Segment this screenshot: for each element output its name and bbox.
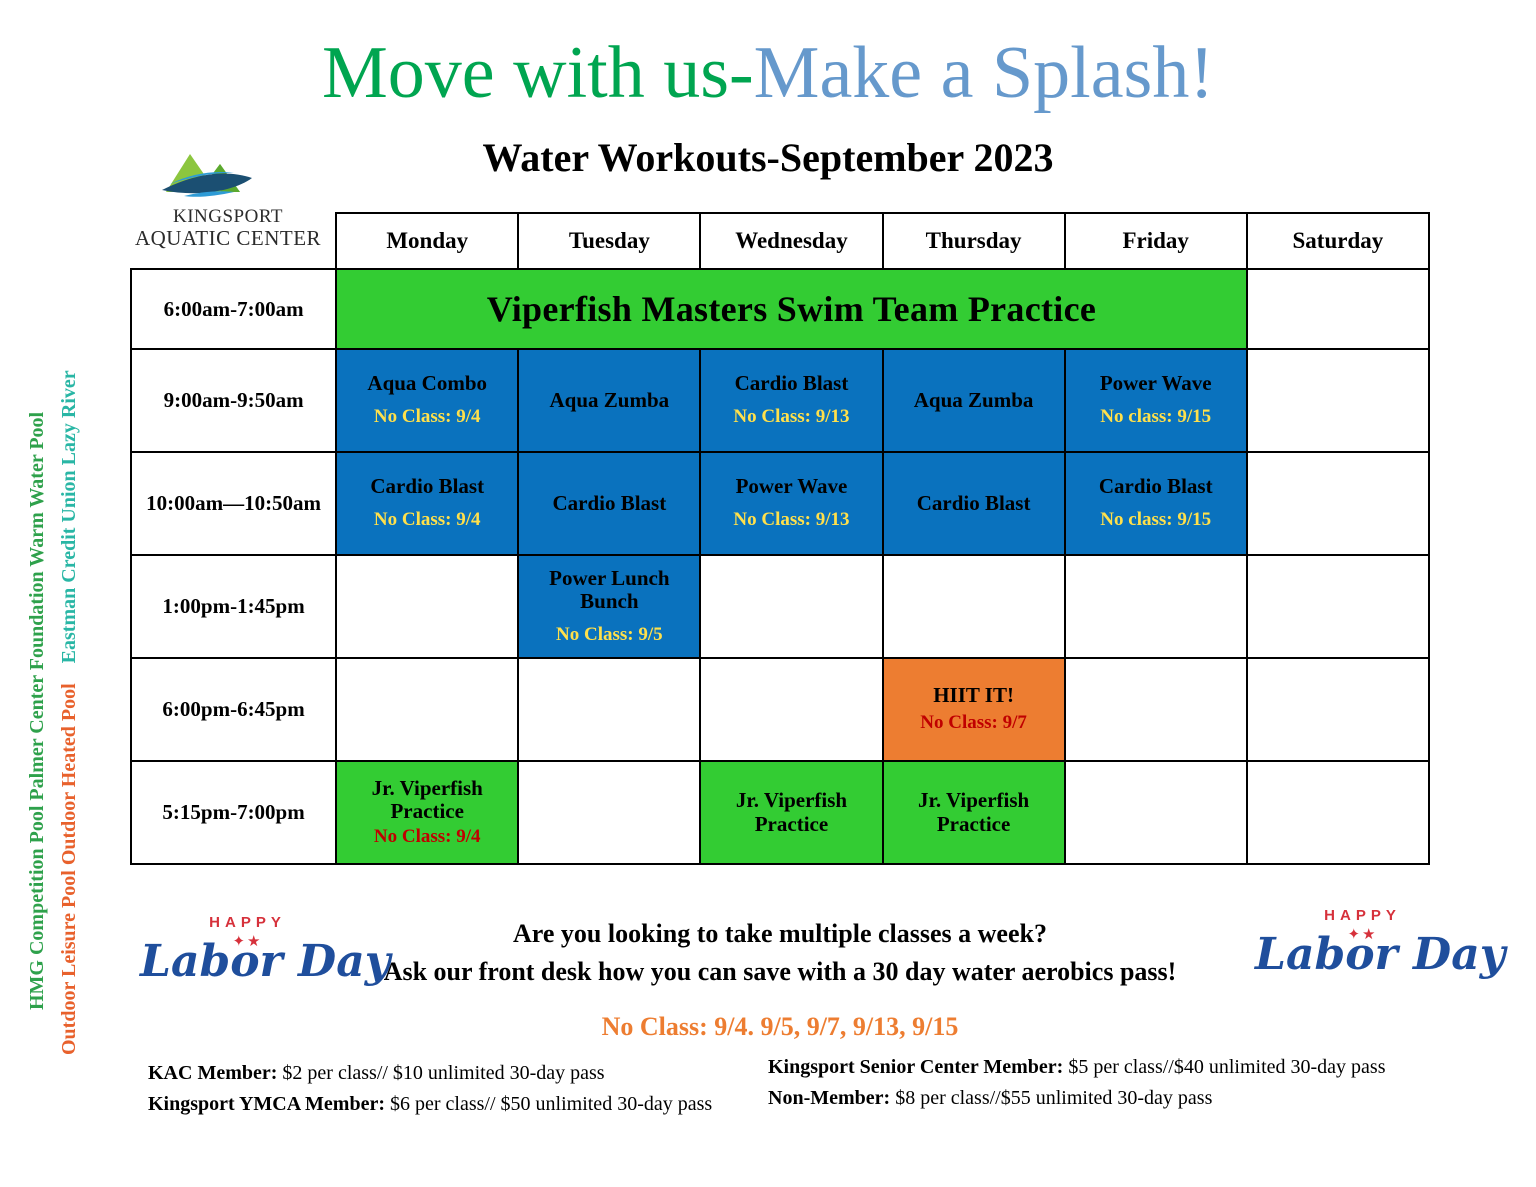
- page-title: Move with us-Make a Splash!: [0, 36, 1536, 110]
- schedule-cell-thursday[interactable]: HIIT IT! No Class: 9/7: [883, 658, 1065, 761]
- column-header-saturday: Saturday: [1247, 213, 1429, 269]
- schedule-cell-monday[interactable]: Cardio Blast No Class: 9/4: [336, 452, 518, 555]
- price-row: Kingsport YMCA Member: $6 per class// $5…: [148, 1089, 712, 1120]
- promo-no-class-summary: No Class: 9/4. 9/5, 9/7, 9/13, 9/15: [330, 1012, 1230, 1042]
- table-row: 1:00pm-1:45pm Power Lunch Bunch No Class…: [131, 555, 1429, 658]
- pricing-left-column: KAC Member: $2 per class// $10 unlimited…: [148, 1058, 712, 1120]
- schedule-cell-wednesday[interactable]: Jr. Viperfish Practice: [700, 761, 882, 864]
- class-name: Aqua Combo: [340, 372, 514, 396]
- class-name: Jr. Viperfish Practice: [704, 789, 878, 836]
- class-name: Aqua Zumba: [887, 389, 1061, 413]
- schedule-cell-masters-banner[interactable]: Viperfish Masters Swim Team Practice: [336, 269, 1247, 349]
- column-header-wednesday: Wednesday: [700, 213, 882, 269]
- schedule-cell-tuesday[interactable]: [518, 761, 700, 864]
- schedule-cell-monday[interactable]: [336, 658, 518, 761]
- schedule-cell-thursday[interactable]: Cardio Blast: [883, 452, 1065, 555]
- time-label: 9:00am-9:50am: [131, 349, 336, 452]
- schedule-cell-saturday[interactable]: [1247, 761, 1429, 864]
- labor-day-script-text: Labor Day: [1255, 929, 1470, 980]
- promo-line-1: Are you looking to take multiple classes…: [330, 915, 1230, 953]
- schedule-cell-tuesday[interactable]: Cardio Blast: [518, 452, 700, 555]
- class-no-class-note: No Class: 9/4: [340, 509, 514, 532]
- table-row: 10:00am—10:50am Cardio Blast No Class: 9…: [131, 452, 1429, 555]
- side-text-pools-line-2: Outdoor Leisure Pool Outdoor Heated Pool…: [58, 370, 81, 1055]
- class-name: Cardio Blast: [704, 372, 878, 396]
- class-no-class-note: No Class: 9/4: [340, 826, 514, 849]
- class-name: Cardio Blast: [340, 475, 514, 499]
- class-name: Cardio Blast: [522, 492, 696, 516]
- side-text-pools-line-1: HMG Competition Pool Palmer Center Found…: [26, 412, 49, 1010]
- schedule-cell-tuesday[interactable]: Aqua Zumba: [518, 349, 700, 452]
- price-value: $5 per class//$40 unlimited 30-day pass: [1063, 1056, 1385, 1078]
- class-name: Cardio Blast: [887, 492, 1061, 516]
- schedule-cell-tuesday[interactable]: [518, 658, 700, 761]
- class-name: Power Wave: [1069, 372, 1243, 396]
- column-header-thursday: Thursday: [883, 213, 1065, 269]
- schedule-cell-monday[interactable]: Aqua Combo No Class: 9/4: [336, 349, 518, 452]
- labor-day-script-text: Labor Day: [140, 936, 355, 987]
- schedule-cell-tuesday[interactable]: Power Lunch Bunch No Class: 9/5: [518, 555, 700, 658]
- schedule-cell-wednesday[interactable]: [700, 658, 882, 761]
- page-title-part-blue: Make a Splash!: [754, 32, 1214, 114]
- class-name: Aqua Zumba: [522, 389, 696, 413]
- schedule-cell-friday[interactable]: Power Wave No class: 9/15: [1065, 349, 1247, 452]
- column-header-tuesday: Tuesday: [518, 213, 700, 269]
- price-value: $6 per class// $50 unlimited 30-day pass: [385, 1093, 712, 1115]
- labor-day-happy-text: HAPPY: [140, 914, 355, 931]
- schedule-cell-monday[interactable]: Jr. Viperfish Practice No Class: 9/4: [336, 761, 518, 864]
- price-row: Kingsport Senior Center Member: $5 per c…: [768, 1052, 1386, 1083]
- class-no-class-note: No Class: 9/4: [340, 406, 514, 429]
- schedule-cell-thursday[interactable]: Jr. Viperfish Practice: [883, 761, 1065, 864]
- class-name: Power Lunch Bunch: [522, 567, 696, 614]
- table-row: 6:00am-7:00am Viperfish Masters Swim Tea…: [131, 269, 1429, 349]
- aquatic-center-mark-icon: [156, 146, 286, 208]
- time-label: 1:00pm-1:45pm: [131, 555, 336, 658]
- schedule-cell-friday[interactable]: Cardio Blast No class: 9/15: [1065, 452, 1247, 555]
- weekly-schedule-table: Monday Tuesday Wednesday Thursday Friday…: [130, 212, 1430, 865]
- header-corner-cell: [131, 213, 336, 269]
- class-no-class-note: No Class: 9/13: [704, 406, 878, 429]
- price-value: $8 per class//$55 unlimited 30-day pass: [890, 1087, 1212, 1109]
- schedule-cell-friday[interactable]: [1065, 761, 1247, 864]
- class-no-class-note: No Class: 9/13: [704, 509, 878, 532]
- labor-day-happy-text: HAPPY: [1255, 907, 1470, 924]
- class-no-class-note: No Class: 9/5: [522, 624, 696, 647]
- promo-block: Are you looking to take multiple classes…: [330, 915, 1230, 1042]
- table-header-row: Monday Tuesday Wednesday Thursday Friday…: [131, 213, 1429, 269]
- time-label: 5:15pm-7:00pm: [131, 761, 336, 864]
- time-label: 10:00am—10:50am: [131, 452, 336, 555]
- table-row: 9:00am-9:50am Aqua Combo No Class: 9/4 A…: [131, 349, 1429, 452]
- schedule-cell-saturday[interactable]: [1247, 555, 1429, 658]
- class-name: Jr. Viperfish Practice: [887, 789, 1061, 836]
- schedule-cell-thursday[interactable]: [883, 555, 1065, 658]
- price-value: $2 per class// $10 unlimited 30-day pass: [277, 1062, 604, 1084]
- class-name: Cardio Blast: [1069, 475, 1243, 499]
- schedule-cell-saturday[interactable]: [1247, 349, 1429, 452]
- price-row: KAC Member: $2 per class// $10 unlimited…: [148, 1058, 712, 1089]
- price-label: Kingsport YMCA Member:: [148, 1093, 385, 1115]
- page-title-part-green: Move with us-: [322, 32, 754, 114]
- price-label: KAC Member:: [148, 1062, 277, 1084]
- schedule-cell-saturday[interactable]: [1247, 452, 1429, 555]
- schedule-cell-thursday[interactable]: Aqua Zumba: [883, 349, 1065, 452]
- schedule-cell-wednesday[interactable]: [700, 555, 882, 658]
- class-no-class-note: No class: 9/15: [1069, 406, 1243, 429]
- class-no-class-note: No Class: 9/7: [887, 712, 1061, 735]
- side-text-green: HMG Competition Pool Palmer Center Found…: [26, 412, 48, 1010]
- class-name: HIIT IT!: [887, 684, 1061, 708]
- price-row: Non-Member: $8 per class//$55 unlimited …: [768, 1083, 1386, 1114]
- side-text-teal: Eastman Credit Union Lazy River: [58, 370, 80, 663]
- time-label: 6:00am-7:00am: [131, 269, 336, 349]
- schedule-cell-saturday[interactable]: [1247, 658, 1429, 761]
- time-label: 6:00pm-6:45pm: [131, 658, 336, 761]
- happy-labor-day-logo-left: HAPPY ✦★ Labor Day: [140, 912, 355, 1012]
- schedule-cell-friday[interactable]: [1065, 555, 1247, 658]
- schedule-cell-monday[interactable]: [336, 555, 518, 658]
- schedule-cell-wednesday[interactable]: Power Wave No Class: 9/13: [700, 452, 882, 555]
- pricing-right-column: Kingsport Senior Center Member: $5 per c…: [768, 1052, 1386, 1114]
- schedule-cell-wednesday[interactable]: Cardio Blast No Class: 9/13: [700, 349, 882, 452]
- promo-line-2: Ask our front desk how you can save with…: [330, 953, 1230, 991]
- price-label: Non-Member:: [768, 1087, 890, 1109]
- side-text-orange: Outdoor Leisure Pool Outdoor Heated Pool: [58, 683, 80, 1055]
- happy-labor-day-logo-right: HAPPY ✦★ Labor Day: [1255, 905, 1470, 1005]
- table-row: 5:15pm-7:00pm Jr. Viperfish Practice No …: [131, 761, 1429, 864]
- schedule-cell-friday[interactable]: [1065, 658, 1247, 761]
- table-row: 6:00pm-6:45pm HIIT IT! No Class: 9/7: [131, 658, 1429, 761]
- class-no-class-note: No class: 9/15: [1069, 509, 1243, 532]
- price-label: Kingsport Senior Center Member:: [768, 1056, 1063, 1078]
- column-header-monday: Monday: [336, 213, 518, 269]
- schedule-cell-saturday[interactable]: [1247, 269, 1429, 349]
- class-name: Jr. Viperfish Practice: [340, 777, 514, 824]
- class-name: Power Wave: [704, 475, 878, 499]
- column-header-friday: Friday: [1065, 213, 1247, 269]
